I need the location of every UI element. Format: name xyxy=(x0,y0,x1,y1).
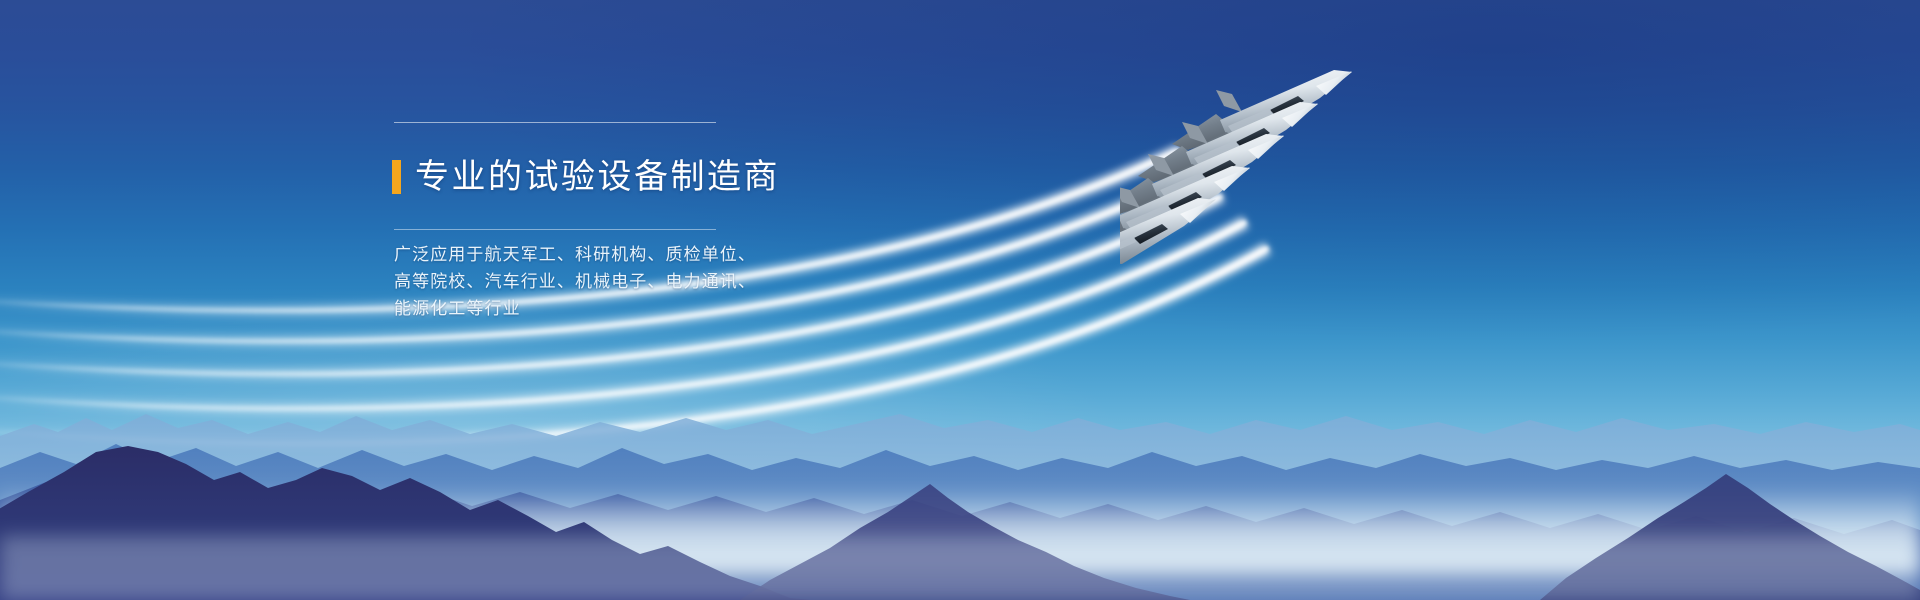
divider-bottom xyxy=(394,229,716,230)
divider-top xyxy=(394,122,716,123)
page-title: 专业的试验设备制造商 xyxy=(415,159,780,195)
valley-mist xyxy=(0,536,1920,600)
subtitle-line-2: 高等院校、汽车行业、机械电子、电力通讯、 xyxy=(394,268,812,295)
headline-row: 专业的试验设备制造商 xyxy=(392,136,812,218)
mountain-range-silhouette xyxy=(0,340,1920,600)
jet-formation-icon xyxy=(1120,40,1540,270)
hero-banner: 专业的试验设备制造商 广泛应用于航天军工、科研机构、质检单位、 高等院校、汽车行… xyxy=(0,0,1920,600)
subtitle-line-3: 能源化工等行业 xyxy=(394,295,812,322)
hero-copy-block: 专业的试验设备制造商 广泛应用于航天军工、科研机构、质检单位、 高等院校、汽车行… xyxy=(392,122,812,322)
subtitle-line-1: 广泛应用于航天军工、科研机构、质检单位、 xyxy=(394,241,812,268)
accent-bar-icon xyxy=(392,160,401,194)
subtitle-block: 广泛应用于航天军工、科研机构、质检单位、 高等院校、汽车行业、机械电子、电力通讯… xyxy=(394,241,812,322)
